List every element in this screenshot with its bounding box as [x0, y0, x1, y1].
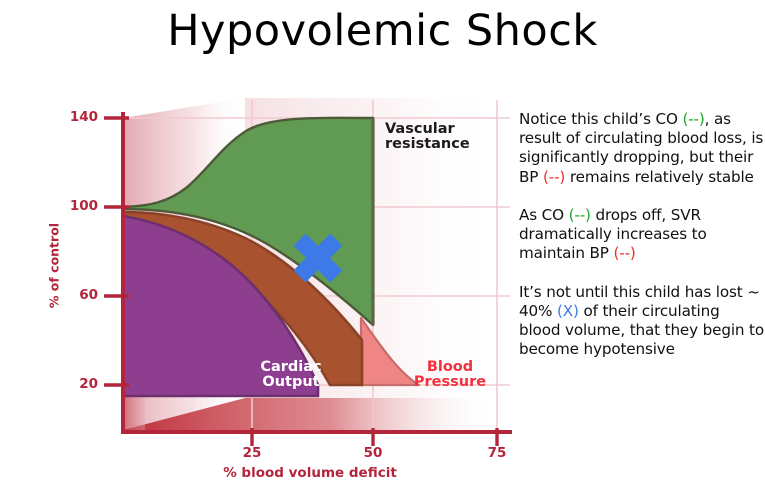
- note-svr-compensation: As CO (--) drops off, SVR dramatically i…: [519, 206, 765, 264]
- notes-panel: Notice this child’s CO (--), as result o…: [519, 110, 765, 359]
- chart-canvas: [0, 0, 520, 494]
- note-hypotension-threshold: It’s not until this child has lost ~ 40%…: [519, 283, 765, 360]
- hypovolemic-shock-chart: 140 100 60 20 25 50 75 % of control % bl…: [0, 0, 520, 494]
- y-tick-140: 140: [52, 109, 98, 125]
- x-tick-75: 75: [477, 445, 517, 461]
- y-axis-title: % of control: [47, 206, 62, 326]
- series-label-vascular-resistance: Vascular resistance: [385, 122, 505, 152]
- x-tick-25: 25: [232, 445, 272, 461]
- y-tick-20: 20: [52, 376, 98, 392]
- series-label-cardiac-output: Cardiac Output: [236, 360, 346, 390]
- x-tick-50: 50: [353, 445, 393, 461]
- floor-left-wall: [123, 392, 145, 430]
- note-co-drop: Notice this child’s CO (--), as result o…: [519, 110, 765, 187]
- series-label-blood-pressure: Blood Pressure: [400, 360, 500, 390]
- x-axis-title: % blood volume deficit: [150, 465, 470, 481]
